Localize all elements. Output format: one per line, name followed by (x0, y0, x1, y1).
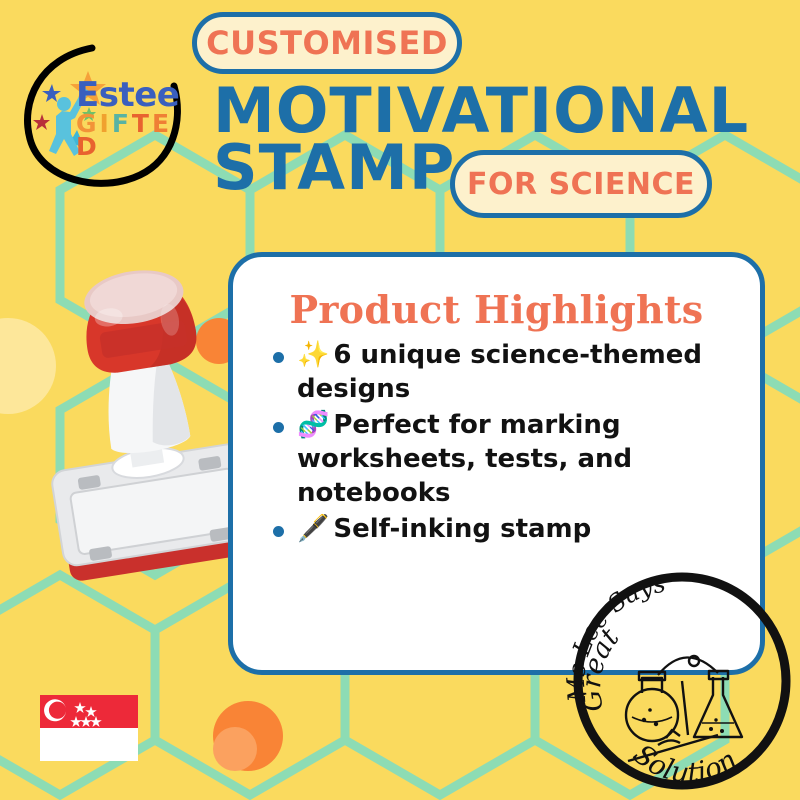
product-photo-stamp (30, 245, 260, 605)
badge-customised-label: CUSTOMISED (206, 24, 448, 62)
highlight-item-text: Self-inking stamp (333, 514, 591, 544)
logo-tagline-letter-1: I (100, 112, 112, 135)
highlight-item-text: 6 unique science-themed designs (297, 340, 702, 404)
fountain-pen-icon: 🖋️ (297, 514, 329, 544)
card-title: Product Highlights (233, 287, 760, 332)
badge-customised: CUSTOMISED (192, 12, 462, 74)
logo-tagline-letter-3: T (132, 112, 152, 135)
logo-tagline: GIFTED (76, 112, 194, 158)
star-blue-icon (42, 84, 61, 102)
highlight-item: 🖋️Self-inking stamp (267, 512, 742, 546)
logo-tagline-letter-4: E (152, 112, 172, 135)
flag-graphic (40, 695, 138, 761)
decor-circle-orange-highlight (213, 727, 257, 771)
highlight-item: 🧬Perfect for marking worksheets, tests, … (267, 408, 742, 510)
logo-tagline-letter-5: D (76, 135, 100, 158)
logo-text-block: Estee GIFTED (76, 80, 194, 158)
singapore-flag (40, 695, 138, 761)
stamp-impression-seal: Ms Lee Says Great Solution (566, 565, 798, 797)
dna-icon: 🧬 (297, 410, 329, 440)
logo-name: Estee (76, 80, 194, 111)
poster-canvas: Estee GIFTED CUSTOMISED MOTIVATIONAL STA… (0, 0, 800, 800)
star-red-icon (33, 114, 50, 130)
logo-tagline-letter-2: F (112, 112, 132, 135)
badge-for-science: FOR SCIENCE (450, 150, 712, 218)
sparkles-icon: ✨ (297, 340, 329, 370)
badge-for-science-label: FOR SCIENCE (467, 167, 695, 202)
highlight-item: ✨6 unique science-themed designs (267, 338, 742, 406)
brand-logo: Estee GIFTED (14, 42, 194, 192)
highlight-list: ✨6 unique science-themed designs🧬Perfect… (233, 338, 760, 546)
highlight-item-text: Perfect for marking worksheets, tests, a… (297, 410, 632, 508)
